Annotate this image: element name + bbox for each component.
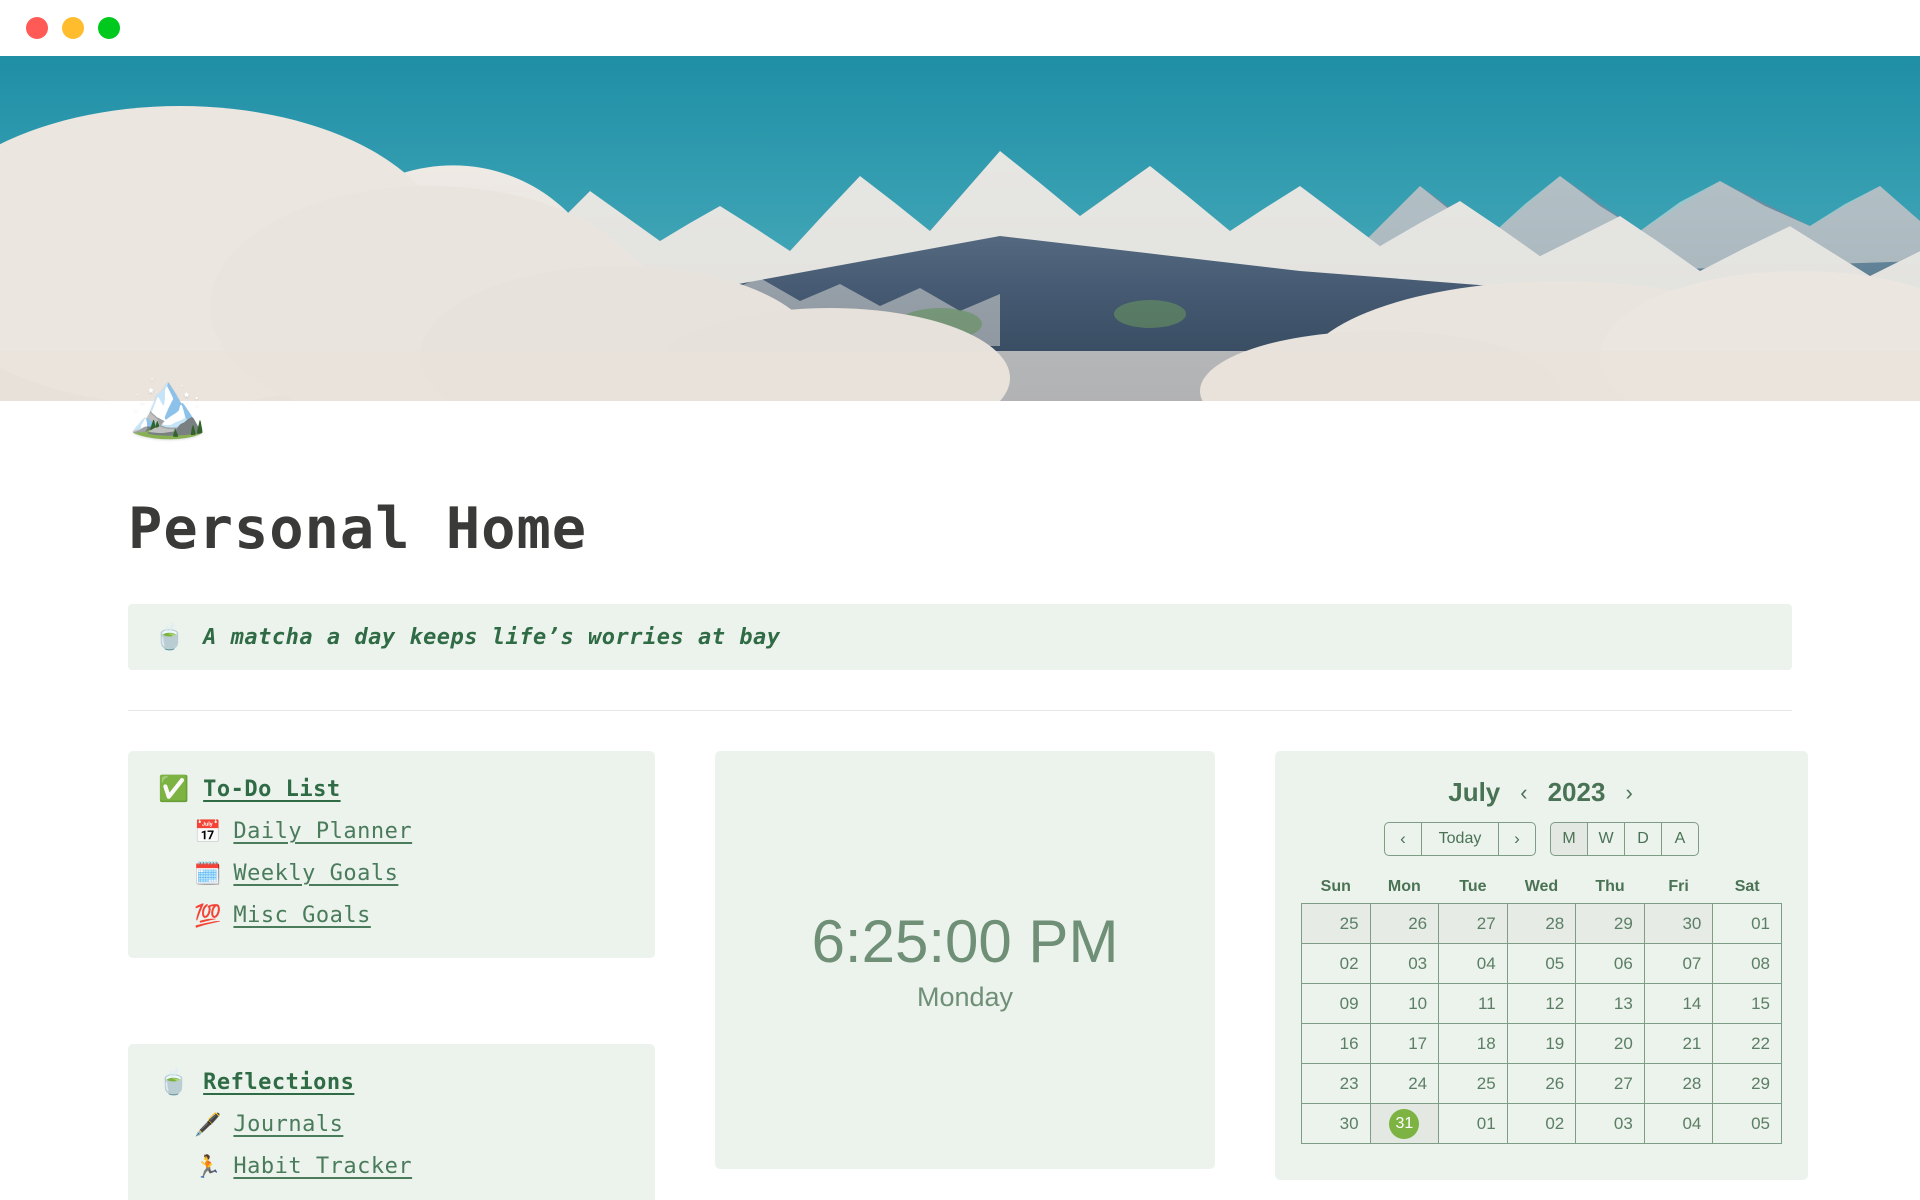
calendar-day-cell[interactable]: 30 bbox=[1302, 1104, 1371, 1144]
calendar-day-cell[interactable]: 23 bbox=[1302, 1064, 1371, 1104]
calendar-day-cell[interactable]: 22 bbox=[1713, 1024, 1782, 1064]
matcha-icon: 🍵 bbox=[158, 1070, 189, 1095]
close-button[interactable] bbox=[26, 17, 48, 39]
page-icon[interactable]: 🏔️ bbox=[128, 372, 208, 436]
calendar-today-button[interactable]: Today bbox=[1421, 822, 1499, 856]
calendar-weekday-header: Sun Mon Tue Wed Thu Fri Sat bbox=[1302, 872, 1782, 904]
calendar-nav-group: ‹ Today › bbox=[1384, 822, 1536, 856]
fountain-pen-icon: 🖋️ bbox=[194, 1114, 221, 1136]
calendar-day-cell[interactable]: 14 bbox=[1644, 984, 1713, 1024]
calendar-body: 2526272829300102030405060708091011121314… bbox=[1302, 904, 1782, 1144]
calendar-view-group: M W D A bbox=[1550, 822, 1699, 856]
reflections-title[interactable]: Reflections bbox=[203, 1070, 354, 1095]
calendar-month-label: July bbox=[1448, 777, 1500, 808]
weekday-wed: Wed bbox=[1507, 872, 1576, 904]
clock-weekday: Monday bbox=[917, 982, 1013, 1013]
calendar-day-cell[interactable]: 02 bbox=[1302, 944, 1371, 984]
calendar-day-cell[interactable]: 12 bbox=[1507, 984, 1576, 1024]
calendar-week-row: 09101112131415 bbox=[1302, 984, 1782, 1024]
chevron-right-icon[interactable]: › bbox=[1623, 782, 1634, 804]
calendar-day-cell[interactable]: 04 bbox=[1644, 1104, 1713, 1144]
calendar-day-cell[interactable]: 19 bbox=[1507, 1024, 1576, 1064]
calendar-view-agenda[interactable]: A bbox=[1661, 822, 1699, 856]
calendar-week-row: 23242526272829 bbox=[1302, 1064, 1782, 1104]
reflections-header[interactable]: 🍵 Reflections bbox=[158, 1070, 625, 1095]
calendar-day-cell[interactable]: 27 bbox=[1576, 1064, 1645, 1104]
maximize-button[interactable] bbox=[98, 17, 120, 39]
calendar-day-cell[interactable]: 26 bbox=[1370, 904, 1439, 944]
calendar-day-cell[interactable]: 25 bbox=[1302, 904, 1371, 944]
quote-callout: 🍵 A matcha a day keeps life’s worries at… bbox=[128, 604, 1792, 670]
calendar-icon: 📅 bbox=[194, 821, 221, 843]
calendar-day-cell[interactable]: 01 bbox=[1439, 1104, 1508, 1144]
weekday-thu: Thu bbox=[1576, 872, 1645, 904]
mountain-landscape-illustration bbox=[0, 56, 1920, 401]
calendar-day-cell[interactable]: 05 bbox=[1713, 1104, 1782, 1144]
calendar-day-cell[interactable]: 21 bbox=[1644, 1024, 1713, 1064]
calendar-day-cell[interactable]: 08 bbox=[1713, 944, 1782, 984]
check-mark-icon: ✅ bbox=[158, 777, 189, 802]
todo-list-header[interactable]: ✅ To-Do List bbox=[158, 777, 625, 802]
widgets-row: ✅ To-Do List 📅 Daily Planner 🗓️ Weekly G… bbox=[128, 751, 1792, 1200]
chevron-left-icon[interactable]: ‹ bbox=[1518, 782, 1529, 804]
calendar-week-row: 02030405060708 bbox=[1302, 944, 1782, 984]
calendar-day-cell[interactable]: 16 bbox=[1302, 1024, 1371, 1064]
calendar-view-month[interactable]: M bbox=[1550, 822, 1588, 856]
calendar-day-cell[interactable]: 29 bbox=[1576, 904, 1645, 944]
matcha-icon: 🍵 bbox=[154, 625, 185, 650]
weekday-mon: Mon bbox=[1370, 872, 1439, 904]
calendar-week-row: 25262728293001 bbox=[1302, 904, 1782, 944]
spiral-calendar-icon: 🗓️ bbox=[194, 863, 221, 885]
todo-list-card: ✅ To-Do List 📅 Daily Planner 🗓️ Weekly G… bbox=[128, 751, 655, 958]
calendar-next-button[interactable]: › bbox=[1498, 822, 1536, 856]
list-item[interactable]: 🏃 Habit Tracker bbox=[158, 1154, 625, 1179]
weekday-tue: Tue bbox=[1439, 872, 1508, 904]
link-weekly-goals[interactable]: Weekly Goals bbox=[233, 861, 398, 886]
calendar-week-row: 30310102030405 bbox=[1302, 1104, 1782, 1144]
left-column: ✅ To-Do List 📅 Daily Planner 🗓️ Weekly G… bbox=[128, 751, 655, 1200]
calendar-view-day[interactable]: D bbox=[1624, 822, 1662, 856]
calendar-day-cell[interactable]: 10 bbox=[1370, 984, 1439, 1024]
calendar-day-cell[interactable]: 26 bbox=[1507, 1064, 1576, 1104]
link-misc-goals[interactable]: Misc Goals bbox=[233, 903, 370, 928]
clock-widget: 6:25:00 PM Monday bbox=[715, 751, 1215, 1169]
calendar-view-week[interactable]: W bbox=[1587, 822, 1625, 856]
calendar-day-cell[interactable]: 18 bbox=[1439, 1024, 1508, 1064]
calendar-title-row: July ‹ 2023 › bbox=[1301, 777, 1782, 808]
calendar-day-cell[interactable]: 06 bbox=[1576, 944, 1645, 984]
calendar-week-row: 16171819202122 bbox=[1302, 1024, 1782, 1064]
page-title: Personal Home bbox=[128, 496, 1792, 562]
link-daily-planner[interactable]: Daily Planner bbox=[233, 819, 412, 844]
todo-list-title[interactable]: To-Do List bbox=[203, 777, 340, 802]
calendar-day-cell[interactable]: 09 bbox=[1302, 984, 1371, 1024]
calendar-day-cell[interactable]: 17 bbox=[1370, 1024, 1439, 1064]
list-item[interactable]: 📅 Daily Planner bbox=[158, 819, 625, 844]
calendar-day-cell[interactable]: 05 bbox=[1507, 944, 1576, 984]
calendar-day-cell[interactable]: 25 bbox=[1439, 1064, 1508, 1104]
calendar-day-cell[interactable]: 13 bbox=[1576, 984, 1645, 1024]
runner-icon: 🏃 bbox=[194, 1156, 221, 1178]
calendar-day-cell[interactable]: 30 bbox=[1644, 904, 1713, 944]
calendar-day-cell[interactable]: 31 bbox=[1370, 1104, 1439, 1144]
calendar-year-label: 2023 bbox=[1548, 777, 1606, 808]
weekday-sat: Sat bbox=[1713, 872, 1782, 904]
calendar-controls: ‹ Today › M W D A bbox=[1301, 822, 1782, 856]
clock-time: 6:25:00 PM bbox=[812, 907, 1119, 976]
calendar-day-cell[interactable]: 02 bbox=[1507, 1104, 1576, 1144]
list-item[interactable]: 🖋️ Journals bbox=[158, 1112, 625, 1137]
weekday-fri: Fri bbox=[1644, 872, 1713, 904]
quote-text: A matcha a day keeps life’s worries at b… bbox=[203, 625, 780, 650]
calendar-day-cell[interactable]: 15 bbox=[1713, 984, 1782, 1024]
window-titlebar bbox=[0, 0, 1920, 56]
page-banner-image bbox=[0, 56, 1920, 401]
middle-column: 6:25:00 PM Monday bbox=[715, 751, 1215, 1169]
today-highlight: 31 bbox=[1389, 1109, 1419, 1139]
hundred-points-icon: 💯 bbox=[194, 905, 221, 927]
reflections-card: 🍵 Reflections 🖋️ Journals 🏃 Habit Tracke… bbox=[128, 1044, 655, 1200]
section-divider bbox=[128, 710, 1792, 711]
calendar-day-cell[interactable]: 29 bbox=[1713, 1064, 1782, 1104]
link-habit-tracker[interactable]: Habit Tracker bbox=[233, 1154, 412, 1179]
calendar-day-cell[interactable]: 04 bbox=[1439, 944, 1508, 984]
calendar-grid: Sun Mon Tue Wed Thu Fri Sat 252627282930… bbox=[1301, 872, 1782, 1144]
calendar-day-cell[interactable]: 07 bbox=[1644, 944, 1713, 984]
calendar-day-cell[interactable]: 28 bbox=[1507, 904, 1576, 944]
calendar-day-cell[interactable]: 24 bbox=[1370, 1064, 1439, 1104]
list-item[interactable]: 💯 Misc Goals bbox=[158, 903, 625, 928]
calendar-prev-button[interactable]: ‹ bbox=[1384, 822, 1422, 856]
link-journals[interactable]: Journals bbox=[233, 1112, 343, 1137]
calendar-day-cell[interactable]: 27 bbox=[1439, 904, 1508, 944]
calendar-day-cell[interactable]: 11 bbox=[1439, 984, 1508, 1024]
calendar-day-cell[interactable]: 20 bbox=[1576, 1024, 1645, 1064]
calendar-day-cell[interactable]: 28 bbox=[1644, 1064, 1713, 1104]
calendar-day-cell[interactable]: 03 bbox=[1576, 1104, 1645, 1144]
calendar-day-cell[interactable]: 03 bbox=[1370, 944, 1439, 984]
list-item[interactable]: 🗓️ Weekly Goals bbox=[158, 861, 625, 886]
right-column: July ‹ 2023 › ‹ Today › M W D A bbox=[1275, 751, 1808, 1180]
page-content: Personal Home 🍵 A matcha a day keeps lif… bbox=[0, 496, 1920, 1200]
weekday-sun: Sun bbox=[1302, 872, 1371, 904]
calendar-widget: July ‹ 2023 › ‹ Today › M W D A bbox=[1275, 751, 1808, 1180]
minimize-button[interactable] bbox=[62, 17, 84, 39]
calendar-day-cell[interactable]: 01 bbox=[1713, 904, 1782, 944]
